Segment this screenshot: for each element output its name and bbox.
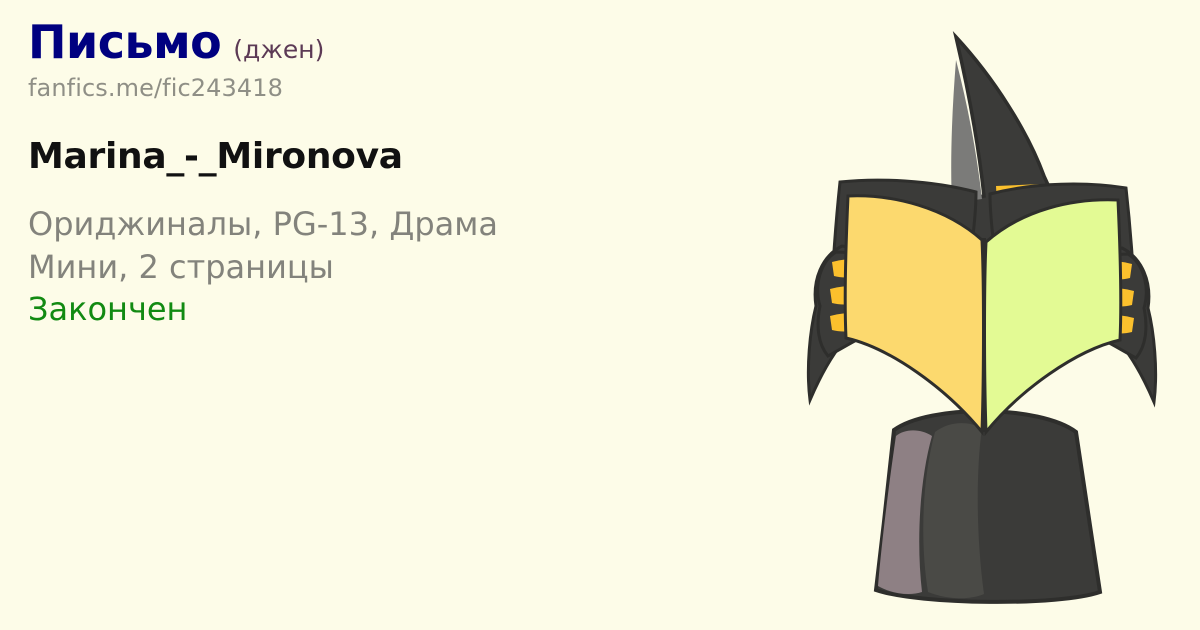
text-column: Письмо (джен) fanfics.me/fic243418 Marin… xyxy=(28,18,768,331)
fic-category-label: (джен) xyxy=(233,37,324,62)
meta-line-fandom-rating-genre: Ориджиналы, PG-13, Драма xyxy=(28,203,768,246)
page-title: Письмо xyxy=(28,18,221,66)
wizard-reading-book-illustration xyxy=(770,0,1190,630)
metadata-block: Ориджиналы, PG-13, Драма Мини, 2 страниц… xyxy=(28,203,768,331)
robe-fold xyxy=(923,423,984,598)
meta-line-size-pages: Мини, 2 страницы xyxy=(28,246,768,289)
fanfic-preview-card: Письмо (джен) fanfics.me/fic243418 Marin… xyxy=(0,0,1200,630)
author-name[interactable]: Marina_-_Mironova xyxy=(28,136,768,177)
wizard-illustration-svg xyxy=(770,0,1190,630)
fic-url[interactable]: fanfics.me/fic243418 xyxy=(28,74,768,102)
book-page-left xyxy=(845,196,983,432)
title-row: Письмо (джен) xyxy=(28,18,768,66)
status-badge: Закончен xyxy=(28,288,768,331)
robe-group xyxy=(876,411,1100,602)
book-page-right xyxy=(985,200,1121,432)
